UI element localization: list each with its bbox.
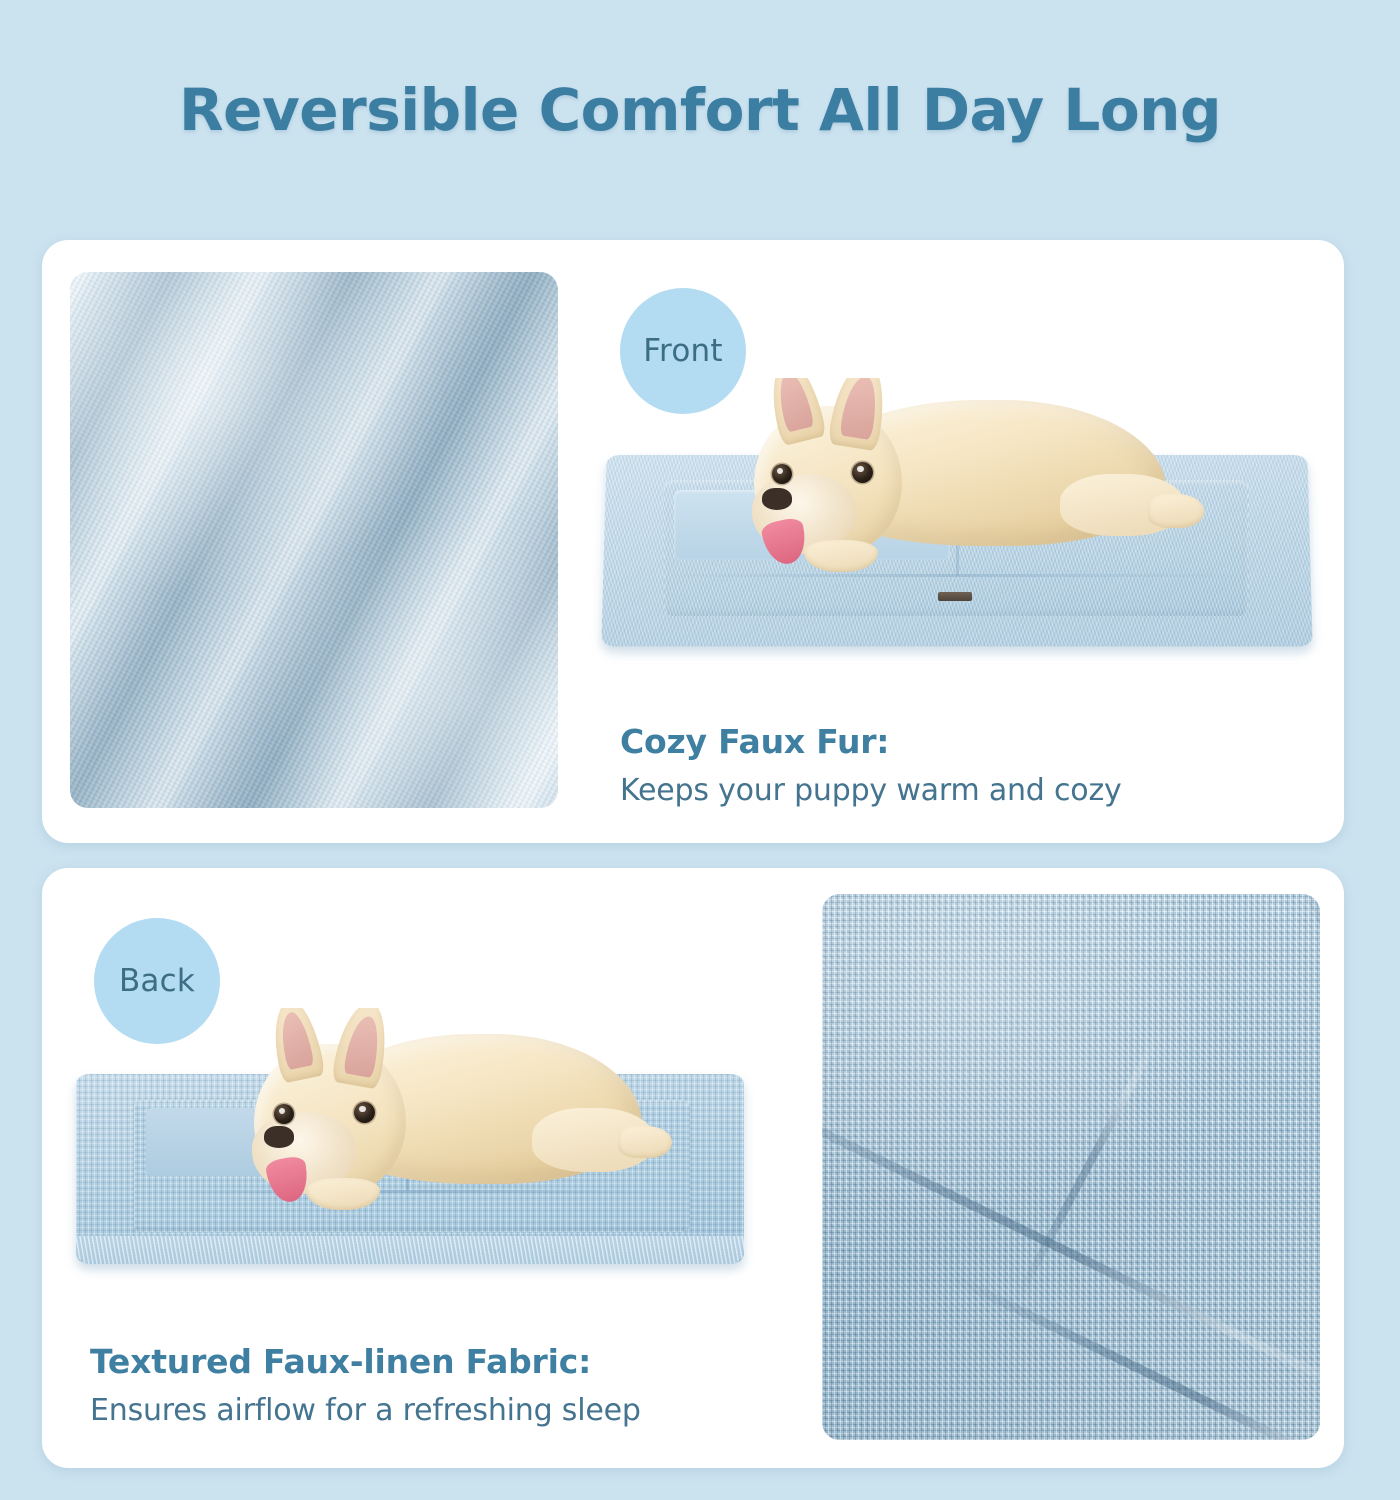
mat-horizontal-seam-back: [134, 1190, 690, 1193]
dog-rear-paw-back: [618, 1126, 672, 1158]
dog-on-fleece-bed-photo: [586, 378, 1328, 688]
dog-eye-left-back: [274, 1104, 294, 1124]
badge-back: Back: [94, 918, 220, 1044]
dog-eye-right-back: [354, 1102, 375, 1123]
linen-shading-overlay: [822, 894, 1320, 1440]
caption-front-title: Cozy Faux Fur:: [620, 722, 1122, 761]
badge-back-label: Back: [119, 963, 195, 999]
dog-nose-back: [264, 1126, 294, 1148]
dog-on-linen-bed-photo: [62, 1008, 762, 1293]
caption-back: Textured Faux-linen Fabric: Ensures airf…: [90, 1342, 641, 1428]
caption-front: Cozy Faux Fur: Keeps your puppy warm and…: [620, 722, 1122, 808]
caption-back-subtitle: Ensures airflow for a refreshing sleep: [90, 1393, 641, 1428]
faux-linen-texture-swatch: [822, 894, 1320, 1440]
brand-tag: [938, 592, 972, 601]
page-title: Reversible Comfort All Day Long: [0, 76, 1400, 144]
caption-back-title: Textured Faux-linen Fabric:: [90, 1342, 641, 1381]
dog-rear-paw: [1148, 494, 1204, 528]
dog-nose: [762, 488, 792, 510]
mat-plush-edge: [76, 1236, 744, 1264]
badge-front: Front: [620, 288, 746, 414]
dog-eye-right: [852, 462, 873, 483]
badge-front-label: Front: [643, 333, 722, 369]
caption-front-subtitle: Keeps your puppy warm and cozy: [620, 773, 1122, 808]
faux-fur-texture-swatch: [70, 272, 558, 808]
dog-eye-left: [772, 464, 792, 484]
